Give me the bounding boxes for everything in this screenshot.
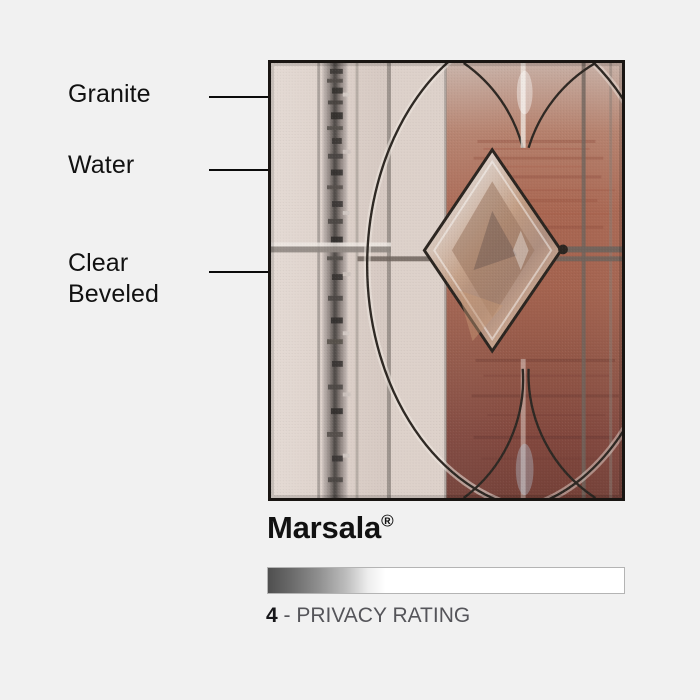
callout-label-granite: Granite (68, 79, 151, 110)
glass-pattern-svg (271, 63, 622, 498)
product-name-text: Marsala (267, 510, 381, 545)
registered-trademark-icon: ® (381, 512, 394, 531)
privacy-rating-bar (267, 567, 625, 594)
page-root: Granite Water Clear Beveled (0, 0, 700, 700)
product-name: Marsala® (267, 512, 394, 543)
callout-label-water: Water (68, 150, 134, 181)
privacy-rating-caption: 4 - PRIVACY RATING (266, 605, 470, 626)
callout-label-clear-beveled: Clear Beveled (68, 248, 159, 309)
privacy-rating-value: 4 (266, 604, 278, 627)
privacy-rating-label: - PRIVACY RATING (278, 604, 471, 627)
glass-panel-image (268, 60, 625, 501)
glass-artwork (271, 63, 622, 498)
